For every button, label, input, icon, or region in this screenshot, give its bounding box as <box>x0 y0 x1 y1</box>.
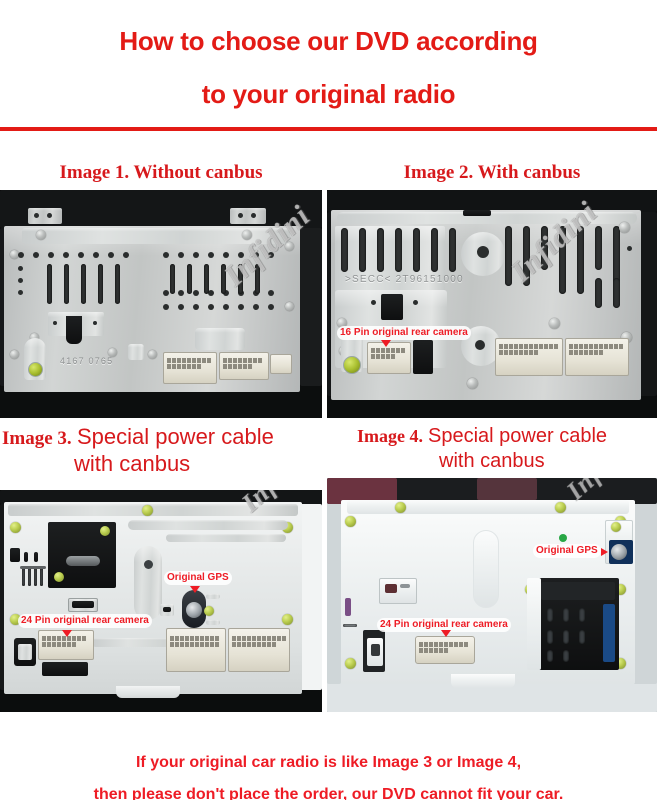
annotation-original-gps: Original GPS <box>533 544 601 558</box>
annotation-arrow-down-icon <box>441 630 451 637</box>
caption-image-3: Image 3. Special power cable with canbus <box>2 424 324 476</box>
infographic-page: How to choose our DVD according to your … <box>0 0 657 800</box>
caption-image-3-prefix: Image 3. <box>2 428 72 449</box>
header-divider <box>0 127 657 131</box>
caption-image-3-line2: with canbus <box>2 451 324 476</box>
footer: If your original car radio is like Image… <box>0 712 657 800</box>
caption-image-2: Image 2. With canbus <box>327 162 657 184</box>
photo-image-2: >SECC< 2T96151000 <box>327 190 657 418</box>
photo-image-3: Original GPS 24 Pin original rear camera… <box>0 490 322 712</box>
annotation-arrow-right-icon <box>601 548 608 556</box>
annotation-16-pin-rear-camera: 16 Pin original rear camera <box>337 326 471 340</box>
annotation-24-pin-rear-camera: 24 Pin original rear camera <box>18 614 152 628</box>
caption-image-4-line2: with canbus <box>357 449 657 474</box>
caption-image-4: Image 4. Special power cable with canbus <box>357 424 657 474</box>
footer-line-2: then please don't place the order, our D… <box>0 786 657 800</box>
annotation-arrow-down-icon <box>381 340 391 347</box>
caption-image-1: Image 1. Without canbus <box>0 162 322 184</box>
page-title-line-2: to your original radio <box>0 79 657 110</box>
caption-image-3-line1: Special power cable <box>77 424 274 449</box>
caption-image-4-line1: Special power cable <box>428 425 607 447</box>
gps-connector <box>611 544 627 560</box>
photo-image-4: Original GPS 24 Pin original rear camera… <box>327 478 657 712</box>
annotation-original-gps: Original GPS <box>164 571 232 585</box>
footer-line-1: If your original car radio is like Image… <box>0 754 657 772</box>
caption-image-4-prefix: Image 4. <box>357 426 423 446</box>
header: How to choose our DVD according to your … <box>0 0 657 128</box>
annotation-arrow-down-icon <box>190 586 200 593</box>
annotation-arrow-down-icon <box>62 630 72 637</box>
molding-mark: >SECC< 2T96151000 <box>345 274 464 285</box>
photo-image-1: 4167 0765 Infidini <box>0 190 322 418</box>
page-title-line-1: How to choose our DVD according <box>0 26 657 57</box>
